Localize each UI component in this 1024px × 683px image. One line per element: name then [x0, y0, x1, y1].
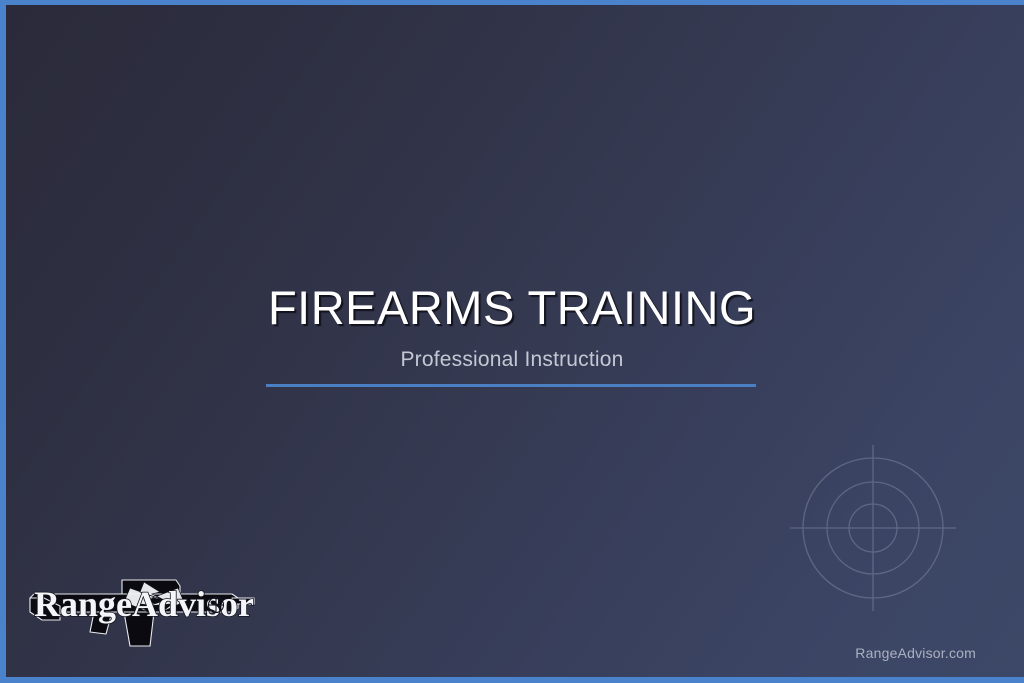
- slide-border-top: [0, 0, 1024, 5]
- slide-border-bottom: [0, 677, 1024, 683]
- presentation-slide: FIREARMS TRAINING Professional Instructi…: [0, 0, 1024, 683]
- accent-divider: [266, 384, 756, 387]
- page-title: FIREARMS TRAINING: [0, 283, 1024, 334]
- title-block: FIREARMS TRAINING Professional Instructi…: [0, 283, 1024, 372]
- brand-logo-wordmark: RangeAdvisor: [34, 584, 254, 624]
- page-subtitle: Professional Instruction: [0, 348, 1024, 372]
- footer-website-url: RangeAdvisor.com: [855, 645, 976, 661]
- target-crosshair-icon: [788, 443, 958, 613]
- slide-border-left: [0, 0, 6, 683]
- brand-logo: RangeAdvisor: [26, 558, 258, 650]
